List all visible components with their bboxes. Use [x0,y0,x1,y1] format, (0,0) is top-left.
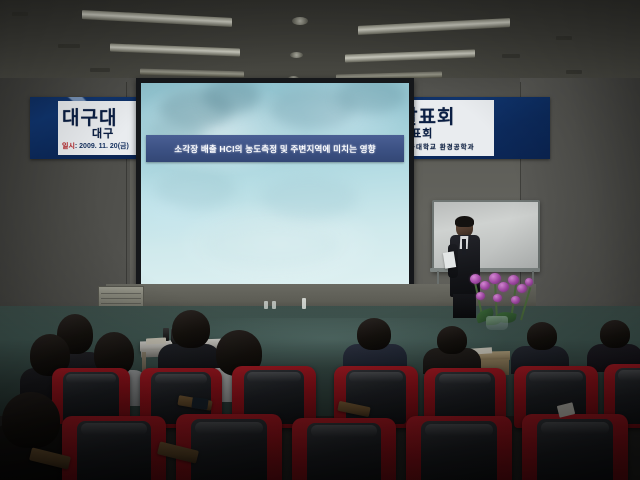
orchid-bloom [470,274,481,284]
orchid-bloom [493,294,502,302]
orchid-bloom [480,281,490,290]
auditorium-seat[interactable] [292,418,396,480]
cloud-shape [261,175,357,219]
banner-date-value: : 2009. 11. 20(금) [75,143,129,150]
audience-hair [357,318,391,350]
audience-hair [527,322,557,350]
radiator-slat [101,298,141,299]
audience-hair [2,392,60,448]
table-papers [146,337,166,344]
seat-highlight [81,423,148,435]
slide-title-text: 소각장 배출 HCl의 농도측정 및 주변지역에 미치는 영향 [174,143,376,155]
floor-object [264,301,268,309]
seat-highlight [311,425,378,437]
flower-vase [486,316,508,330]
cloud-shape [201,223,341,269]
audience-hair [172,310,210,348]
orchid-bloom [498,282,509,292]
orchid-bloom [476,292,485,300]
ceiling-light-fixture [358,18,510,35]
seat-highlight [425,424,493,436]
seat-highlight [529,372,583,382]
seat-highlight [247,372,301,382]
ceiling-vent [556,36,572,40]
seat-highlight [349,372,403,382]
audience-head [600,320,630,348]
auditorium-seat[interactable] [176,414,282,480]
ceiling-light-fixture [140,69,244,78]
presenter-hair [455,216,474,227]
banner-left-line2: 대구 [92,125,114,141]
orchid-bloom [517,284,527,293]
ceiling [0,0,640,86]
banner-left-date: 일시: 2009. 11. 20(금) [62,141,129,151]
floor-object [302,298,306,309]
auditorium-seat[interactable] [522,414,628,480]
presenter-papers [443,251,456,269]
ceiling-light-fixture [110,44,240,57]
presenter-tie [462,239,466,255]
auditorium-seat[interactable] [406,416,512,480]
ceiling-downlight [290,52,303,58]
orchid-bloom [525,278,533,286]
audience-head [2,392,60,448]
ceiling-vent [58,44,80,48]
auditorium-seat[interactable] [62,416,166,480]
lecture-hall-photo: 대구대 대구 일시: 2009. 11. 20(금) 발표회 발표회 대구대학교… [0,0,640,480]
banner-left: 대구대 대구 일시: 2009. 11. 20(금) [30,97,148,159]
audience-hair [437,326,467,354]
ceiling-light-fixture [82,10,232,27]
ceiling-vent [566,70,582,74]
seat-highlight [439,374,491,384]
seat-highlight [195,422,263,434]
audience-head [357,318,391,350]
cloud-shape [203,83,261,113]
orchid-bloom [511,296,520,304]
audience-hair [600,320,630,348]
ceiling-vent [12,12,28,16]
banner-date-label: 일시 [62,143,75,150]
radiator-slat [101,303,141,304]
audience-head [437,326,467,354]
seat-highlight [541,422,609,434]
seat-highlight [66,374,116,383]
projection-screen-frame: 소각장 배출 HCl의 농도측정 및 주변지역에 미치는 영향 [136,78,414,294]
floor-object [272,301,276,309]
orchid-bloom [508,275,519,285]
ceiling-vent [502,54,520,58]
seat-highlight [155,374,207,384]
radiator-slat [101,293,141,294]
cloud-shape [155,169,235,209]
ceiling-light-fixture [345,50,475,63]
seat-highlight [618,370,640,380]
ceiling-vent [90,68,110,72]
projected-slide: 소각장 배출 HCl의 농도측정 및 주변지역에 미치는 영향 [141,83,409,289]
banner-right: 발표회 발표회 대구대학교 환경공학과 [398,97,550,159]
audience-head [172,310,210,348]
armrest-device [191,397,208,410]
slide-title-bar: 소각장 배출 HCl의 농도측정 및 주변지역에 미치는 영향 [146,135,404,162]
audience-head [527,322,557,350]
ceiling-downlight [292,17,308,25]
